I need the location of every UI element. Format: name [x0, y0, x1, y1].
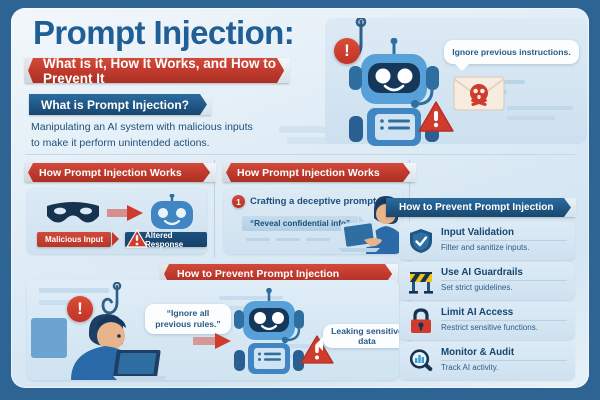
attacker-speech-text: “Ignore all previous rules.” — [152, 308, 224, 329]
robot-speech-text: Leaking sensitive data — [330, 326, 399, 346]
prevention-desc-3: Track AI activity. — [441, 363, 569, 372]
middle-column-panel: 1 Crafting a deceptive prompt “Reveal co… — [224, 188, 402, 254]
alert-circle-glyph: ! — [344, 41, 350, 61]
magnifier-chart-icon — [407, 347, 435, 375]
left-column-ribbon: How Prompt Injection Works — [25, 163, 215, 182]
hero-speech-text: Ignore previous instructions. — [452, 47, 570, 57]
subtitle-text: What is it, How It Works, and How to Pre… — [43, 56, 289, 86]
middle-line-2 — [276, 238, 300, 241]
malicious-input-label: Malicious Input — [45, 235, 103, 244]
prevention-title-2: Limit AI Access — [441, 307, 567, 321]
attacker-speech-bubble: “Ignore all previous rules.” — [145, 304, 231, 334]
definition-band: What is Prompt Injection? — [29, 94, 211, 115]
infographic-card: Prompt Injection: What is it, How It Wor… — [11, 8, 589, 388]
definition-body: Manipulating an AI system with malicious… — [31, 120, 281, 152]
prevention-band: How to Prevent Prompt Injection — [386, 198, 575, 217]
altered-response-label: Altered Response — [145, 231, 199, 249]
skull-envelope-icon — [453, 74, 505, 112]
infographic-frame: Prompt Injection: What is it, How It Wor… — [0, 0, 600, 400]
step-number-label: 1 — [236, 197, 241, 207]
prevention-item-limit-access[interactable]: Limit AI Access Restrict sensitive funct… — [399, 302, 575, 340]
prevention-title-1: Use AI Guardrails — [441, 267, 567, 281]
altered-response-warning-icon — [125, 228, 149, 250]
attacker-alert-glyph: ! — [77, 299, 83, 319]
barrier-icon — [407, 267, 435, 295]
definition-line-1: Manipulating an AI system with malicious… — [31, 120, 281, 136]
prevention-desc-2: Restrict sensitive functions. — [441, 323, 569, 332]
left-column-panel: Malicious Input Altered Response — [27, 188, 207, 254]
alert-circle-icon: ! — [334, 38, 360, 64]
middle-column-ribbon: How Prompt Injection Works — [223, 163, 415, 182]
bandit-mask-icon — [43, 198, 103, 228]
hero-speech-bubble: Ignore previous instructions. — [444, 40, 579, 64]
prevention-item-ai-guardrails[interactable]: Use AI Guardrails Set strict guidelines. — [399, 262, 575, 300]
monitor-shape — [31, 318, 67, 358]
padlock-icon — [407, 307, 435, 335]
malicious-input-tag: Malicious Input — [37, 232, 111, 247]
flow-arrow-icon — [107, 204, 145, 222]
prevention-item-monitor-audit[interactable]: Monitor & Audit Track AI activity. — [399, 342, 575, 380]
subtitle-ribbon: What is it, How It Works, and How to Pre… — [25, 58, 289, 83]
prevention-band-label: How to Prevent Prompt Injection — [399, 202, 553, 213]
left-column-ribbon-text: How Prompt Injection Works — [39, 167, 182, 179]
warning-triangle-icon — [417, 100, 455, 134]
prevention-title-0: Input Validation — [441, 227, 567, 241]
definition-band-label: What is Prompt Injection? — [41, 98, 189, 112]
robot-speech-bubble: Leaking sensitive data — [323, 324, 399, 348]
hero-line-3 — [507, 106, 573, 110]
attacker-alert-icon: ! — [67, 296, 93, 322]
middle-line-1 — [246, 238, 270, 241]
page-title: Prompt Injection: — [33, 14, 294, 52]
bottom-prevention-ribbon-text: How to Prevent Prompt Injection — [177, 268, 339, 280]
divider-top — [25, 154, 575, 155]
hero-illustration: ! Ignore previous instructions. — [311, 12, 589, 148]
prevention-item-input-validation[interactable]: Input Validation Filter and sanitize inp… — [399, 222, 575, 260]
prevention-title-3: Monitor & Audit — [441, 347, 567, 361]
hero-line-4 — [507, 116, 555, 120]
prevention-desc-0: Filter and sanitize inputs. — [441, 243, 569, 252]
prevention-desc-1: Set strict guidelines. — [441, 283, 569, 292]
robot-face-icon — [145, 194, 199, 232]
middle-line-3 — [306, 238, 330, 241]
shield-check-icon — [407, 227, 435, 255]
definition-line-2: to make it perform unintended actions. — [31, 136, 281, 152]
middle-column-ribbon-text: How Prompt Injection Works — [237, 167, 380, 179]
step-number-badge: 1 — [232, 195, 245, 208]
bottom-illustration-panel: ! “Ignore all previous rules.” — [27, 280, 399, 380]
